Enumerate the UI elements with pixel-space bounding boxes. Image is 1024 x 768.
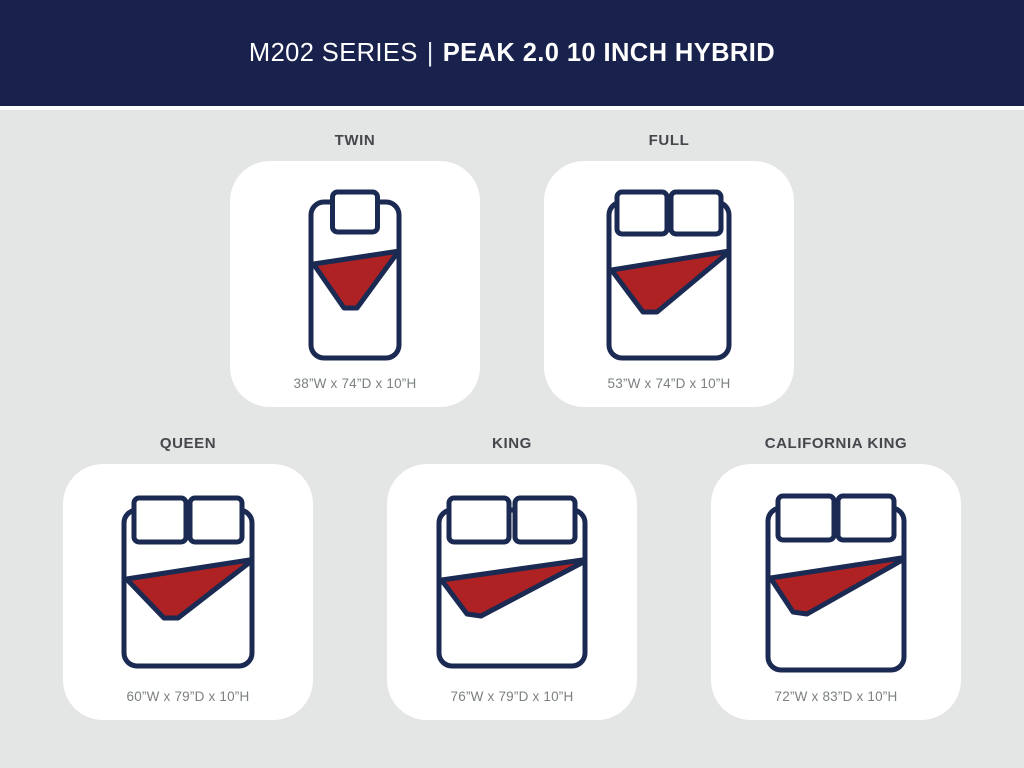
size-card-california-king[interactable]: 72”W x 83”D x 10”H (711, 464, 961, 720)
bed-king-icon (423, 494, 601, 674)
size-label-california-king: CALIFORNIA KING (765, 435, 908, 452)
page-title: M202 SERIES | PEAK 2.0 10 INCH HYBRID (249, 39, 775, 68)
size-label-queen: QUEEN (160, 435, 216, 452)
size-row-bottom: QUEEN 60”W x 79”D x 10”H KING (0, 435, 1024, 720)
size-card-twin[interactable]: 38”W x 74”D x 10”H (230, 161, 480, 407)
size-row-top: TWIN 38”W x 74”D x 10”H (0, 132, 1024, 407)
bed-queen-icon (110, 494, 266, 674)
size-block-full[interactable]: FULL 53”W x 74”D x 10”H (544, 132, 794, 407)
size-dimensions-queen: 60”W x 79”D x 10”H (127, 689, 250, 720)
bed-illustration-wrap-twin (230, 175, 480, 376)
size-label-king: KING (492, 435, 532, 452)
bed-full-icon (595, 188, 743, 364)
header-bar: M202 SERIES | PEAK 2.0 10 INCH HYBRID (0, 0, 1024, 106)
bed-illustration-wrap-california-king (711, 478, 961, 689)
size-label-twin: TWIN (335, 132, 376, 149)
bed-illustration-wrap-queen (63, 478, 313, 689)
title-product: PEAK 2.0 10 INCH HYBRID (443, 39, 775, 68)
size-dimensions-king: 76”W x 79”D x 10”H (451, 689, 574, 720)
size-grid: TWIN 38”W x 74”D x 10”H (0, 110, 1024, 768)
bed-twin-icon (299, 188, 411, 364)
title-series: M202 SERIES (249, 39, 418, 68)
size-dimensions-california-king: 72”W x 83”D x 10”H (775, 689, 898, 720)
size-card-queen[interactable]: 60”W x 79”D x 10”H (63, 464, 313, 720)
bed-illustration-wrap-full (544, 175, 794, 376)
size-dimensions-twin: 38”W x 74”D x 10”H (294, 376, 417, 407)
size-block-queen[interactable]: QUEEN 60”W x 79”D x 10”H (63, 435, 313, 720)
size-block-twin[interactable]: TWIN 38”W x 74”D x 10”H (230, 132, 480, 407)
size-label-full: FULL (649, 132, 690, 149)
size-block-california-king[interactable]: CALIFORNIA KING 72”W x 83”D x 10”H (711, 435, 961, 720)
size-block-king[interactable]: KING 76”W x 79”D x 10”H (387, 435, 637, 720)
bed-california-king-icon (752, 492, 920, 676)
size-chart-page: M202 SERIES | PEAK 2.0 10 INCH HYBRID TW… (0, 0, 1024, 768)
size-card-king[interactable]: 76”W x 79”D x 10”H (387, 464, 637, 720)
bed-illustration-wrap-king (387, 478, 637, 689)
title-divider: | (427, 39, 434, 68)
size-card-full[interactable]: 53”W x 74”D x 10”H (544, 161, 794, 407)
size-dimensions-full: 53”W x 74”D x 10”H (608, 376, 731, 407)
